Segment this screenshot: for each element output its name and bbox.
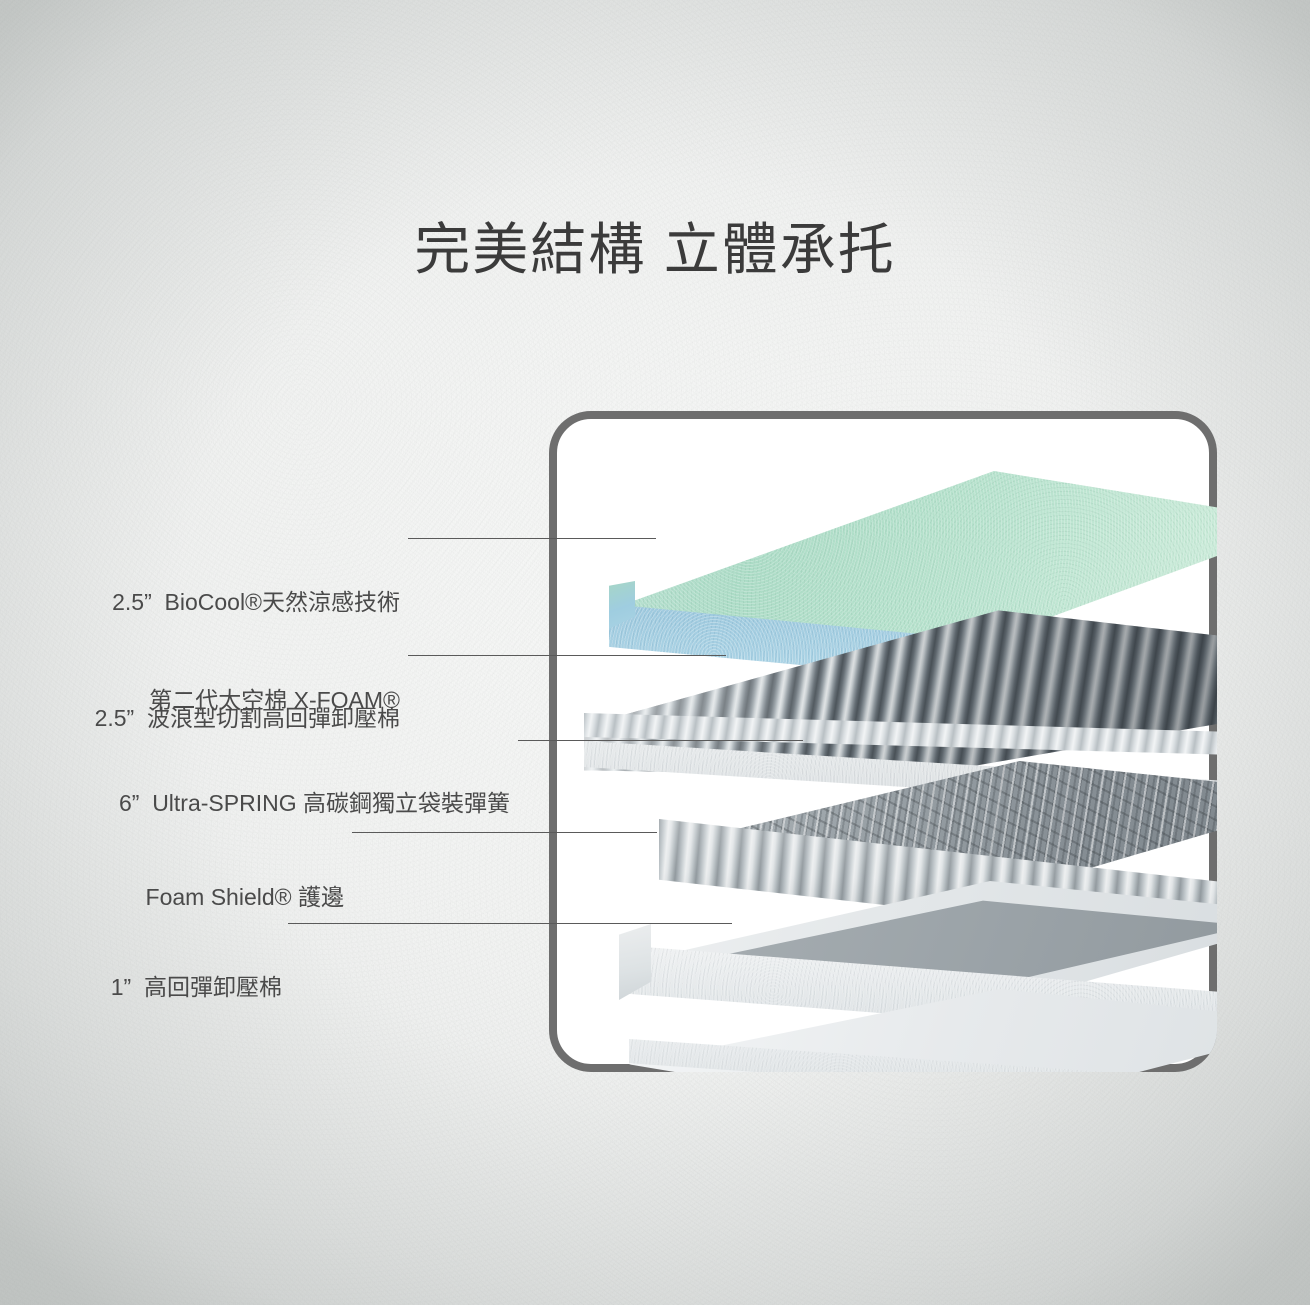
leader-line-biocool-foam — [408, 538, 656, 539]
leader-line-pocket-springs — [518, 740, 803, 741]
callout-base-foam-line-1: 1” 高回彈卸壓棉 — [38, 971, 282, 1004]
product-feature-graphic: 完美結構 立體承托 — [0, 0, 1310, 1305]
leader-line-wave-cut-foam — [408, 655, 726, 656]
leader-line-base-foam — [288, 923, 732, 924]
mattress-diagram — [549, 411, 1217, 1072]
page-title: 完美結構 立體承托 — [0, 216, 1310, 283]
callout-biocool-line-1: 2.5” BioCool®天然涼感技術 — [38, 586, 400, 619]
callout-base-foam: 1” 高回彈卸壓棉 — [38, 906, 282, 1069]
